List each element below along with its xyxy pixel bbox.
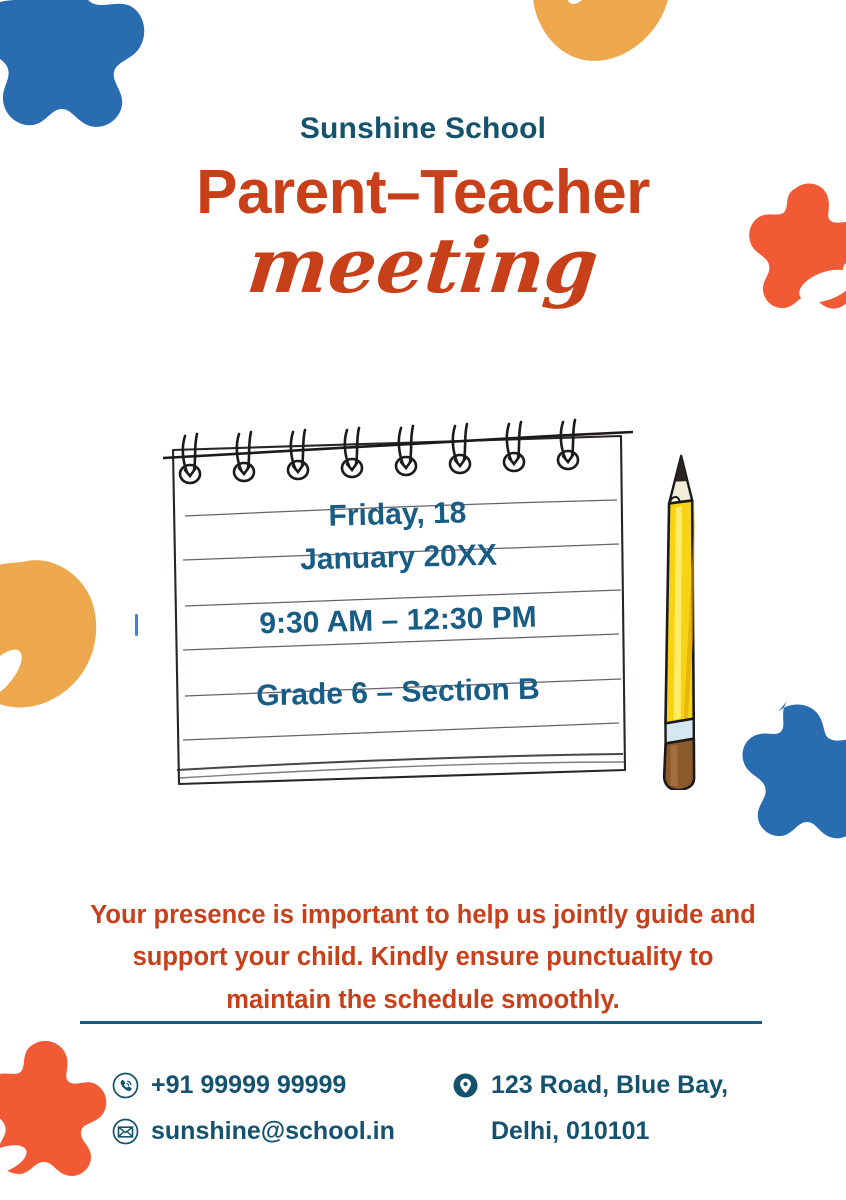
page-title: Parent–Teacher	[0, 146, 846, 224]
footer-divider	[80, 1021, 762, 1024]
poster-canvas: Sunshine School Parent–Teacher meeting	[0, 0, 846, 1200]
address-row[interactable]: 123 Road, Blue Bay,	[452, 1062, 728, 1108]
meeting-date: Friday, 18 January 20XX	[162, 488, 634, 585]
location-pin-icon	[452, 1072, 479, 1099]
blue-flower-shape-bottom-right	[706, 700, 846, 880]
envelope-icon	[112, 1118, 139, 1145]
school-name: Sunshine School	[0, 0, 846, 146]
phone-row[interactable]: +91 99999 99999	[112, 1062, 395, 1108]
poster-footer: +91 99999 99999 sunshine@school.in	[0, 1062, 846, 1182]
phone-icon	[112, 1072, 139, 1099]
page-title-script: meeting	[0, 224, 846, 306]
address-line-2: Delhi, 010101	[452, 1117, 649, 1146]
phone-number: +91 99999 99999	[151, 1071, 346, 1100]
email-address: sunshine@school.in	[151, 1117, 395, 1146]
amber-petal-shape-left	[0, 556, 118, 761]
poster-header: Sunshine School Parent–Teacher meeting	[0, 0, 846, 306]
email-row[interactable]: sunshine@school.in	[112, 1108, 395, 1154]
pencil-illustration	[640, 450, 720, 790]
small-blue-tick-mark	[135, 614, 138, 636]
footer-contact-column: +91 99999 99999 sunshine@school.in	[112, 1062, 395, 1154]
footer-address-column: 123 Road, Blue Bay, Delhi, 010101	[452, 1062, 728, 1154]
notepad-text-block: Friday, 18 January 20XX 9:30 AM – 12:30 …	[163, 418, 633, 808]
address-line-1: 123 Road, Blue Bay,	[491, 1071, 728, 1100]
meeting-grade: Grade 6 – Section B	[163, 670, 634, 715]
meeting-time: 9:30 AM – 12:30 PM	[163, 598, 634, 643]
body-paragraph: Your presence is important to help us jo…	[78, 894, 768, 1022]
spiral-notepad: Friday, 18 January 20XX 9:30 AM – 12:30 …	[163, 418, 633, 808]
address-row-2: Delhi, 010101	[452, 1108, 728, 1154]
